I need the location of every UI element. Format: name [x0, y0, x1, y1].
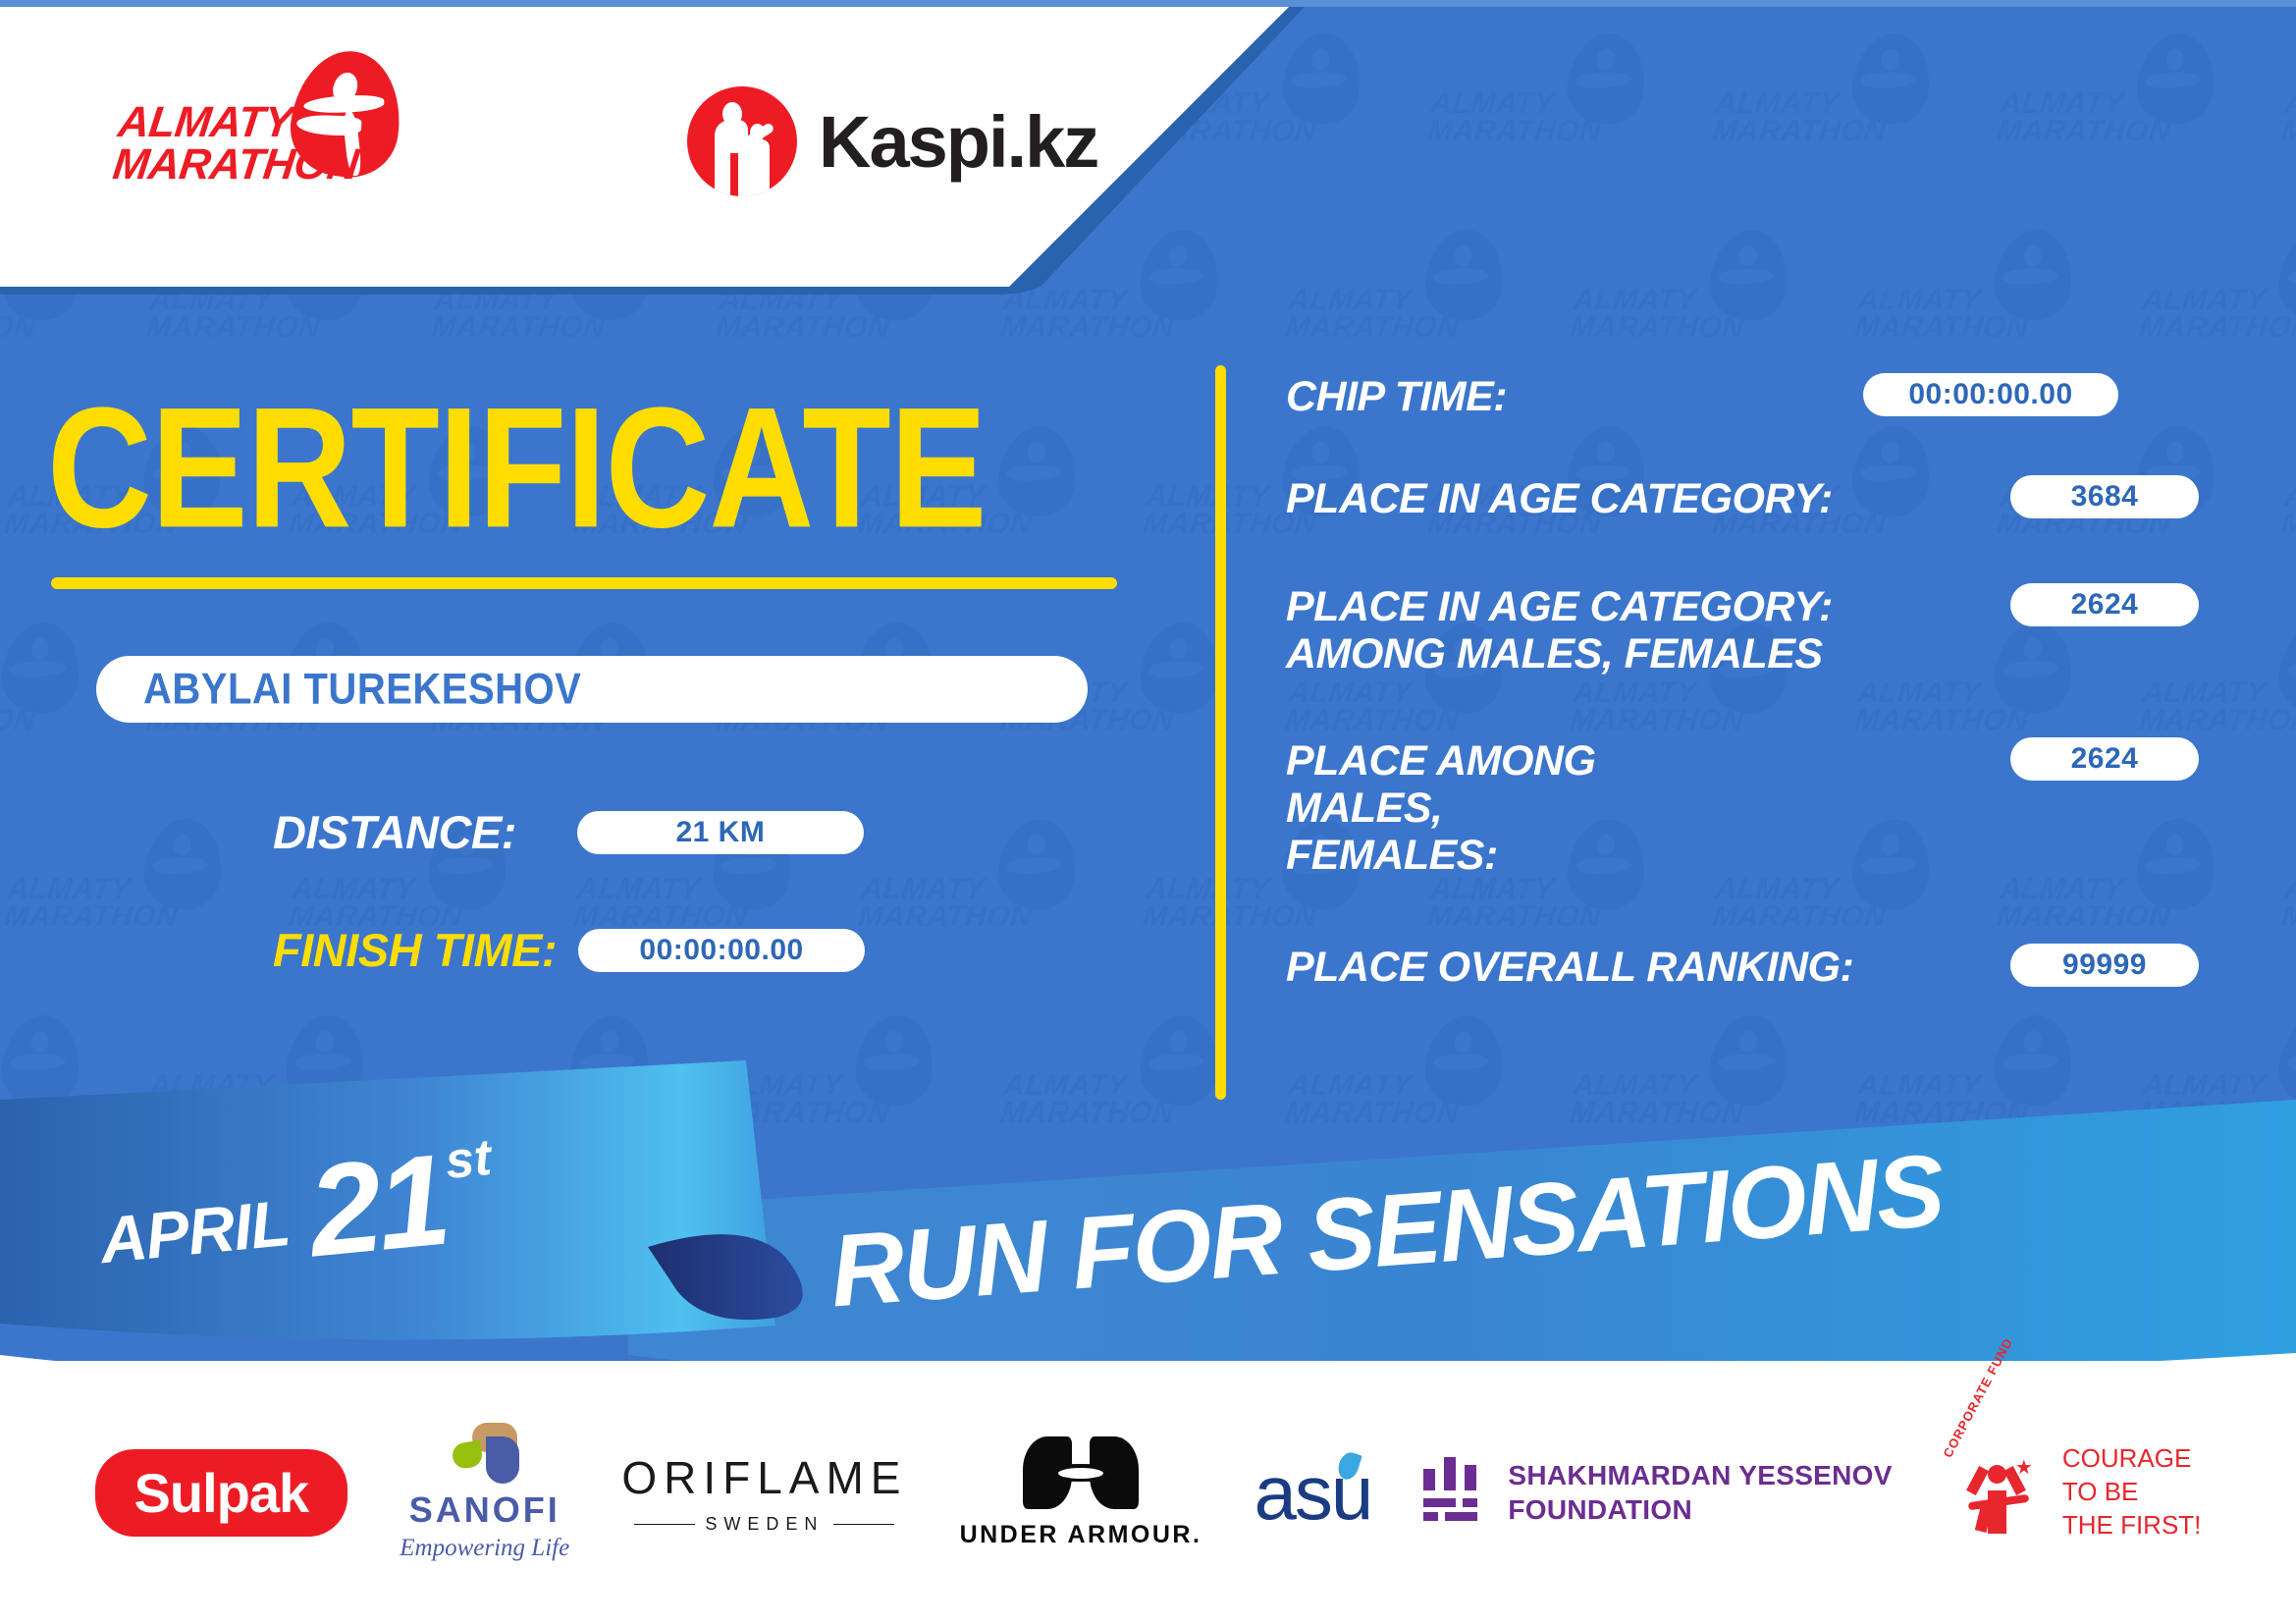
kaspi-logo: Kaspi.kz [687, 86, 1097, 196]
page-title: CERTIFICATE [47, 383, 986, 555]
results-column: CHIP TIME: 00:00:00.00 PLACE IN AGE CATE… [1286, 373, 2199, 1024]
participant-name-field: ABYLAI TUREKESHOV [96, 656, 1088, 723]
top-rule [0, 0, 2296, 7]
finish-time-row: FINISH TIME: 00:00:00.00 [273, 923, 865, 977]
sponsor-logo-under-armour: UNDER ARMOUR. [960, 1436, 1202, 1549]
event-month: APRIL [97, 1185, 293, 1277]
place-age-category-value: 3684 [2010, 475, 2199, 518]
sponsor-logo-sulpak: Sulpak [95, 1449, 348, 1537]
kaspi-people-icon [687, 86, 797, 196]
courage-wordmark: COURAGE TO BE THE FIRST! [2062, 1442, 2202, 1542]
place-among-gender-value: 2624 [2010, 737, 2199, 781]
chip-time-value: 00:00:00.00 [1863, 373, 2118, 416]
sponsor-logo-yessenov: SHAKHMARDAN YESSENOV FOUNDATION [1423, 1455, 1892, 1530]
place-overall-row: PLACE OVERALL RANKING: 99999 [1286, 944, 2199, 991]
almaty-marathon-wordmark: ALMATY MARATHON [111, 102, 366, 186]
sulpak-wordmark: Sulpak [95, 1449, 348, 1537]
courage-line2: TO BE [2062, 1476, 2202, 1509]
yessenov-icon [1423, 1455, 1484, 1530]
place-age-category-gender-label: PLACE IN AGE CATEGORY:AMONG MALES, FEMAL… [1286, 583, 1833, 677]
yessenov-wordmark: SHAKHMARDAN YESSENOV FOUNDATION [1508, 1458, 1892, 1527]
sponsor-logo-courage: CORPORATE FUND ★ COURAGE TO BE THE FIRST… [1945, 1441, 2202, 1543]
courage-line1: COURAGE [2062, 1442, 2202, 1476]
oriflame-tagline: SWEDEN [634, 1514, 894, 1535]
sponsor-logo-sanofi: SANOFI Empowering Life [400, 1423, 569, 1562]
almaty-line2: MARATHON [111, 144, 361, 187]
finish-time-value: 00:00:00.00 [578, 929, 865, 972]
courage-figure-icon: CORPORATE FUND ★ [1945, 1441, 2047, 1543]
participant-name-value: ABYLAI TUREKESHOV [143, 665, 581, 714]
distance-label: DISTANCE: [273, 805, 516, 859]
place-age-category-gender-row: PLACE IN AGE CATEGORY:AMONG MALES, FEMAL… [1286, 583, 2199, 677]
sanofi-icon [447, 1423, 523, 1484]
sanofi-tagline: Empowering Life [400, 1535, 569, 1562]
almaty-marathon-logo: ALMATY MARATHON [116, 51, 440, 189]
chip-time-label: CHIP TIME: [1286, 373, 1796, 420]
place-overall-label: PLACE OVERALL RANKING: [1286, 944, 1853, 991]
place-age-category-row: PLACE IN AGE CATEGORY: 3684 [1286, 475, 2199, 522]
yessenov-line1: SHAKHMARDAN YESSENOV [1508, 1458, 1892, 1492]
sponsor-logo-oriflame: ORIFLAME SWEDEN [621, 1451, 907, 1535]
sponsor-logo-asu: asu [1255, 1448, 1372, 1538]
kaspi-wordmark: Kaspi.kz [819, 100, 1097, 184]
under-armour-wordmark: UNDER ARMOUR. [960, 1521, 1202, 1549]
oriflame-wordmark: ORIFLAME [621, 1451, 907, 1504]
sponsor-strip: Sulpak SANOFI Empowering Life ORIFLAME S… [0, 1361, 2296, 1624]
finish-time-label: FINISH TIME: [273, 923, 557, 977]
place-among-gender-row: PLACE AMONG MALES,FEMALES: 2624 [1286, 737, 2199, 879]
yessenov-line2: FOUNDATION [1508, 1492, 1892, 1527]
title-underline [51, 577, 1117, 589]
almaty-line1: ALMATY [116, 102, 366, 144]
column-divider [1215, 365, 1226, 1100]
under-armour-icon [1023, 1436, 1139, 1509]
distance-row: DISTANCE: 21 KM [273, 805, 864, 859]
place-among-gender-label: PLACE AMONG MALES,FEMALES: [1286, 737, 1747, 879]
place-age-category-label: PLACE IN AGE CATEGORY: [1286, 475, 1833, 522]
distance-value: 21 KM [577, 811, 864, 854]
event-day-suffix: st [443, 1128, 494, 1191]
chip-time-row: CHIP TIME: 00:00:00.00 [1286, 373, 2199, 420]
sanofi-wordmark: SANOFI [409, 1489, 561, 1531]
courage-line3: THE FIRST! [2062, 1509, 2202, 1543]
place-age-category-gender-value: 2624 [2010, 583, 2199, 626]
place-overall-value: 99999 [2010, 944, 2199, 987]
event-day: 21 [304, 1146, 451, 1268]
certificate-canvas: ALMATYMARATHONALMATYMARATHONALMATYMARATH… [0, 0, 2296, 1624]
